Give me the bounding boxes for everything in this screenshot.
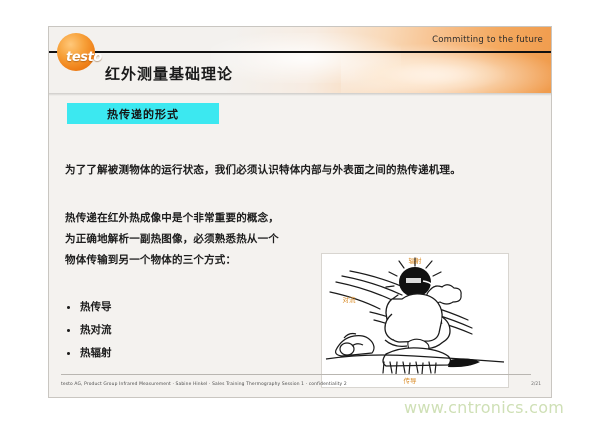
- section-subtitle-bar: 热传递的形式: [67, 103, 219, 124]
- slide-title: 红外测量基础理论: [105, 63, 233, 84]
- body-line: 为正确地解析一副热图像，必须熟悉热从一个: [65, 229, 279, 250]
- slide-canvas: Committing to the future testo 红外测量基础理论 …: [0, 0, 600, 424]
- body-line: 物体传输到另一个物体的三个方式：: [65, 250, 279, 271]
- lead-paragraph: 为了了解被测物体的运行状态，我们必须认识特体内部与外表面之间的热传递机理。: [65, 162, 461, 177]
- slide-body: 热传递的形式 为了了解被测物体的运行状态，我们必须认识特体内部与外表面之间的热传…: [49, 96, 551, 397]
- slide-frame: Committing to the future testo 红外测量基础理论 …: [48, 26, 552, 398]
- testo-logo-icon: testo: [57, 33, 95, 71]
- header-divider-line: [49, 51, 551, 53]
- list-item: 热对流: [67, 319, 112, 342]
- figure-label-convection: 对流: [343, 295, 357, 304]
- bullet-dot-icon: [67, 329, 70, 332]
- header-highlight-decoration: [355, 57, 505, 91]
- list-item: 热传导: [67, 296, 112, 319]
- site-watermark: www.cntronics.com: [404, 398, 564, 417]
- bullet-label: 热辐射: [80, 342, 112, 365]
- heat-transfer-illustration: 辐射 对流 传导: [321, 253, 509, 388]
- testo-logo-text: testo: [66, 50, 102, 65]
- page-number: 2/21: [531, 382, 541, 387]
- body-line: 热传递在红外热成像中是个非常重要的概念，: [65, 208, 279, 229]
- list-item: 热辐射: [67, 342, 112, 365]
- bullet-dot-icon: [67, 352, 70, 355]
- footer-divider: [61, 374, 531, 375]
- bullet-label: 热对流: [80, 319, 112, 342]
- illustration-drawing: 辐射 对流 传导: [322, 254, 508, 387]
- bullet-dot-icon: [67, 306, 70, 309]
- body-paragraph: 热传递在红外热成像中是个非常重要的概念， 为正确地解析一副热图像，必须熟悉热从一…: [65, 208, 279, 271]
- figure-label-radiation: 辐射: [409, 256, 423, 265]
- brand-tagline: Committing to the future: [432, 35, 543, 45]
- figure-label-conduction: 传导: [404, 376, 418, 385]
- bullet-list: 热传导 热对流 热辐射: [67, 296, 112, 365]
- footer-text: testo AG, Product Group Infrared Measure…: [61, 382, 347, 387]
- section-subtitle-text: 热传递的形式: [107, 106, 179, 122]
- bullet-label: 热传导: [80, 296, 112, 319]
- slide-header: Committing to the future testo 红外测量基础理论: [49, 27, 551, 93]
